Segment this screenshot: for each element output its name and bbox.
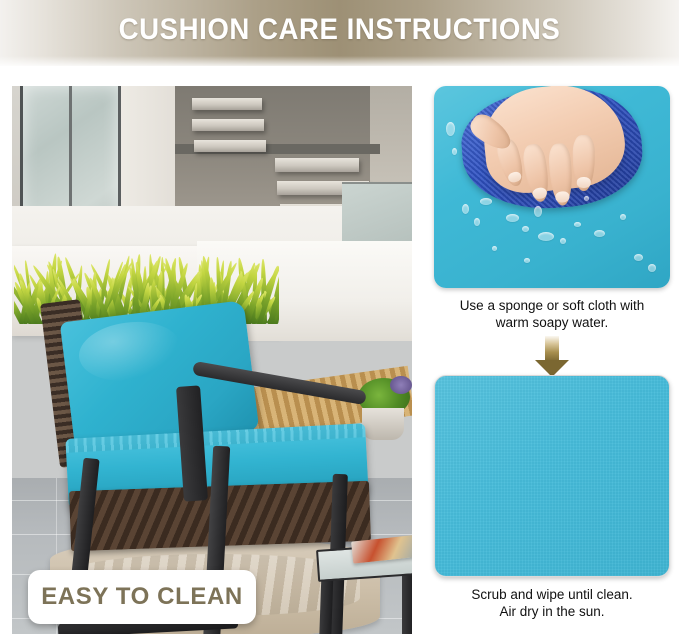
step-2-caption-line-1: Scrub and wipe until clean.: [434, 586, 670, 603]
easy-to-clean-badge: EASY TO CLEAN: [28, 570, 256, 624]
water-droplet: [524, 258, 530, 263]
fingernail: [532, 187, 548, 200]
stair-step: [192, 119, 264, 131]
glass-balustrade: [342, 182, 412, 244]
water-droplet: [534, 206, 542, 217]
arrow-stem: [545, 336, 559, 361]
flower-pot: [362, 408, 404, 440]
step-2-caption-line-2: Air dry in the sun.: [434, 603, 670, 620]
step-1-caption-line-2: warm soapy water.: [434, 314, 670, 331]
water-droplet: [452, 148, 457, 155]
fingernail: [577, 177, 591, 188]
step-1-caption: Use a sponge or soft cloth with warm soa…: [434, 288, 670, 331]
step-2-caption: Scrub and wipe until clean. Air dry in t…: [434, 577, 670, 620]
water-droplet: [594, 230, 605, 237]
fingernail: [507, 171, 522, 184]
water-droplet: [506, 214, 519, 222]
water-droplet: [462, 204, 469, 214]
side-table-leg: [402, 566, 412, 634]
step-1-caption-line-1: Use a sponge or soft cloth with: [434, 297, 670, 314]
water-droplet: [648, 264, 656, 272]
stair-step: [194, 140, 266, 152]
water-droplet: [538, 232, 554, 241]
step-1-image: [434, 86, 670, 288]
potted-flower: [390, 376, 412, 394]
water-droplet: [574, 222, 581, 227]
water-droplet: [620, 214, 626, 220]
care-steps-column: Use a sponge or soft cloth with warm soa…: [434, 86, 670, 638]
finger: [573, 135, 595, 191]
water-droplet: [560, 238, 566, 244]
flow-arrow-container: [434, 331, 670, 375]
stair-step: [275, 158, 359, 172]
down-arrow-icon: [535, 336, 569, 376]
page-title: CUSHION CARE INSTRUCTIONS: [27, 0, 652, 60]
water-droplet: [634, 254, 643, 261]
water-droplet: [474, 218, 480, 226]
water-droplet: [522, 226, 529, 232]
header-banner: CUSHION CARE INSTRUCTIONS: [0, 0, 679, 66]
fingernail: [555, 191, 570, 203]
water-droplet: [446, 122, 455, 136]
water-droplet: [492, 246, 497, 251]
step-2-image: [434, 375, 670, 577]
water-droplet: [480, 198, 492, 205]
badge-label: EASY TO CLEAN: [41, 583, 243, 611]
water-droplet: [584, 196, 589, 201]
product-lifestyle-photo: EASY TO CLEAN: [12, 86, 412, 634]
stair-step: [192, 98, 262, 110]
